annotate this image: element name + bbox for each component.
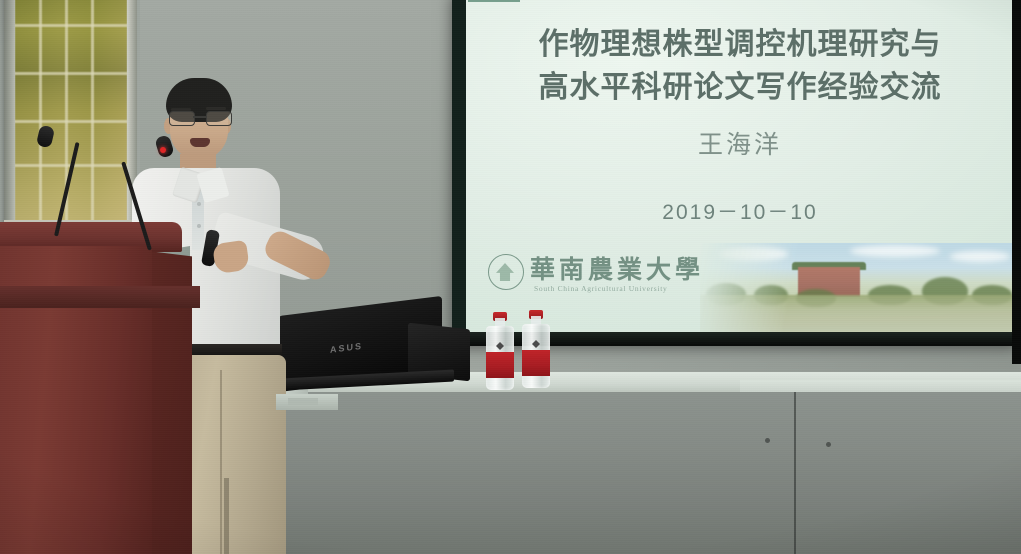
desk-screw-left: [765, 438, 770, 443]
slide-title-line2: 高水平科研论文写作经验交流: [466, 67, 1014, 110]
slide-campus-photo: [700, 243, 1014, 332]
window-glass: [15, 0, 127, 222]
university-name-english: South China Agricultural University: [534, 284, 667, 293]
front-desk-panel: [282, 392, 1021, 554]
desk-screw-right: [826, 442, 831, 447]
water-bottle-right: [522, 310, 550, 388]
presenter-mouth: [190, 138, 210, 147]
window-frame: [4, 0, 132, 230]
slide-date: 2019－10－10: [466, 196, 1014, 226]
bottle-label-left: [486, 352, 514, 378]
lectern-ledge: [0, 286, 200, 308]
slide-title: 作物理想株型调控机理研究与 高水平科研论文写作经验交流: [466, 24, 1014, 109]
slide-title-line1: 作物理想株型调控机理研究与: [539, 27, 942, 62]
front-desk-seam: [794, 392, 796, 554]
water-bottle-left: [486, 312, 514, 390]
lecture-hall-photo: 作物理想株型调控机理研究与 高水平科研论文写作经验交流 王海洋 2019－10－…: [0, 0, 1021, 554]
eyeglasses-icon: [168, 111, 232, 125]
screen-right-edge: [1012, 0, 1021, 364]
university-name-chinese: 華南農業大學: [530, 250, 704, 286]
screen-top-tab: [468, 0, 520, 2]
slide-author: 王海洋: [466, 125, 1014, 161]
gate-emblem-icon: [488, 254, 524, 290]
university-logo: 華南農業大學 South China Agricultural Universi…: [488, 252, 718, 300]
window-mullion-left: [4, 0, 15, 230]
bottle-label-right: [522, 350, 550, 376]
photo-lake-ground: [700, 295, 1014, 332]
lectern-shelf-label: [288, 398, 318, 405]
microphone-led-indicator: [160, 147, 166, 153]
